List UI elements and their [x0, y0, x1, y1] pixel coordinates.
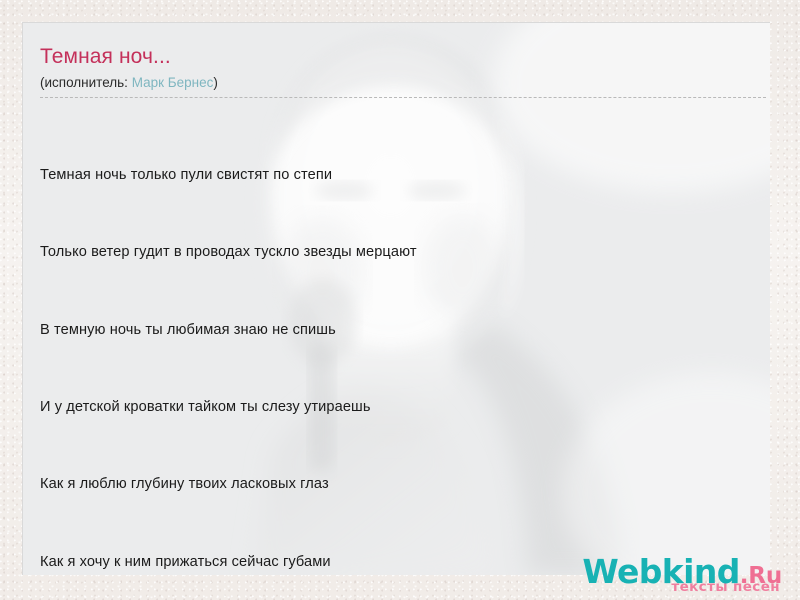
lyrics-text: Темная ночь только пули свистят по степи… — [40, 111, 770, 575]
page-background: Темная ноч... (исполнитель: Марк Бернес)… — [0, 0, 800, 600]
artist-suffix-label: ) — [213, 75, 218, 90]
artist-link[interactable]: Марк Бернес — [132, 75, 214, 90]
page-title: Темная ноч... — [40, 45, 770, 69]
lyric-line: Как я люблю глубину твоих ласковых глаз — [40, 472, 770, 498]
webkind-logo[interactable]: Webkind.Ru тексты песен — [582, 555, 782, 595]
artist-prefix-label: (исполнитель: — [40, 75, 132, 90]
header-divider — [40, 97, 766, 98]
lyric-line: Только ветер гудит в проводах тускло зве… — [40, 240, 770, 266]
lyrics-card: Темная ноч... (исполнитель: Марк Бернес)… — [22, 22, 770, 575]
lyric-line: Темная ночь только пули свистят по степи — [40, 163, 770, 189]
lyric-line: И у детской кроватки тайком ты слезу ути… — [40, 395, 770, 421]
lyric-line: В темную ночь ты любимая знаю не спишь — [40, 318, 770, 344]
artist-line: (исполнитель: Марк Бернес) — [40, 75, 770, 97]
